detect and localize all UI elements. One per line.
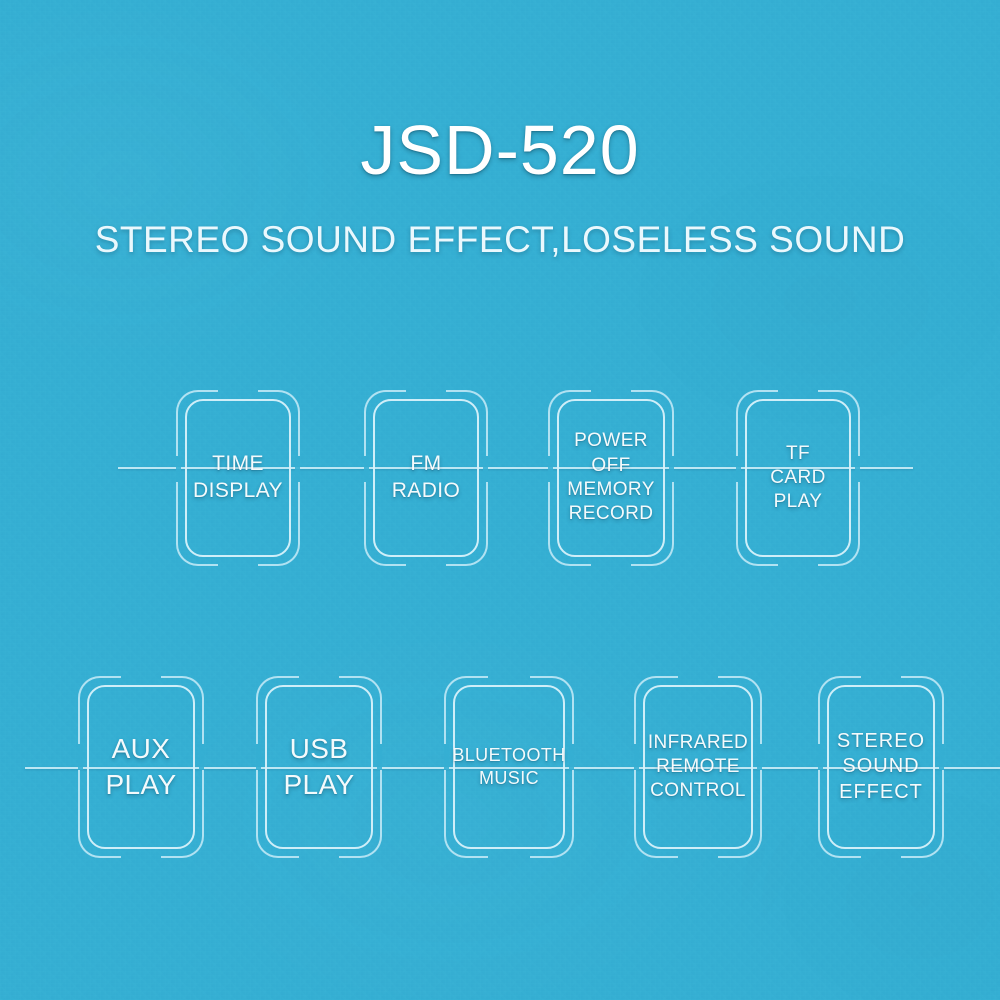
feature-inner-box: FM RADIO (373, 399, 479, 557)
feature-inner-box: TIME DISPLAY (185, 399, 291, 557)
feature-box-usb-play[interactable]: USB PLAY (256, 676, 382, 858)
feature-label: BLUETOOTH MUSIC (448, 744, 569, 790)
feature-inner-box: STEREO SOUND EFFECT (827, 685, 935, 849)
feature-box-tf-card-play[interactable]: TF CARD PLAY (736, 390, 860, 566)
bracket-notch-left (548, 456, 553, 482)
feature-box-bluetooth-music[interactable]: BLUETOOTH MUSIC (444, 676, 574, 858)
feature-label: STEREO SOUND EFFECT (833, 729, 929, 806)
feature-box-power-off-memory-record[interactable]: POWER OFF MEMORY RECORD (548, 390, 674, 566)
feature-label: AUX PLAY (101, 731, 180, 803)
bracket-notch-left (176, 456, 181, 482)
bracket-notch-left (78, 744, 83, 770)
bracket-notch-left (736, 456, 741, 482)
feature-box-aux-play[interactable]: AUX PLAY (78, 676, 204, 858)
bracket-notch-left (818, 744, 823, 770)
bracket-notch-left (364, 456, 369, 482)
feature-label: TIME DISPLAY (189, 451, 287, 505)
product-subtitle: STEREO SOUND EFFECT,LOSELESS SOUND (0, 214, 1000, 266)
feature-inner-box: BLUETOOTH MUSIC (453, 685, 565, 849)
bracket-notch-left (634, 744, 639, 770)
bracket-notch-right (377, 744, 382, 770)
feature-label: FM RADIO (388, 451, 465, 505)
bracket-notch-right (295, 456, 300, 482)
bracket-notch-right (669, 456, 674, 482)
feature-inner-box: TF CARD PLAY (745, 399, 851, 557)
bracket-notch-right (569, 744, 574, 770)
bracket-notch-right (757, 744, 762, 770)
feature-inner-box: USB PLAY (265, 685, 373, 849)
bracket-notch-right (199, 744, 204, 770)
feature-inner-box: POWER OFF MEMORY RECORD (557, 399, 665, 557)
bracket-notch-right (939, 744, 944, 770)
feature-label: INFRARED REMOTE CONTROL (644, 731, 752, 804)
bracket-notch-right (483, 456, 488, 482)
feature-inner-box: INFRARED REMOTE CONTROL (643, 685, 753, 849)
feature-box-infrared-remote-control[interactable]: INFRARED REMOTE CONTROL (634, 676, 762, 858)
product-title: JSD-520 (0, 108, 1000, 192)
feature-inner-box: AUX PLAY (87, 685, 195, 849)
feature-box-fm-radio[interactable]: FM RADIO (364, 390, 488, 566)
bracket-notch-left (256, 744, 261, 770)
feature-label: POWER OFF MEMORY RECORD (559, 429, 663, 526)
feature-box-stereo-sound-effect[interactable]: STEREO SOUND EFFECT (818, 676, 944, 858)
feature-label: TF CARD PLAY (747, 442, 849, 515)
feature-box-time-display[interactable]: TIME DISPLAY (176, 390, 300, 566)
feature-label: USB PLAY (279, 731, 358, 803)
product-feature-poster: JSD-520 STEREO SOUND EFFECT,LOSELESS SOU… (0, 0, 1000, 1000)
bracket-notch-right (855, 456, 860, 482)
